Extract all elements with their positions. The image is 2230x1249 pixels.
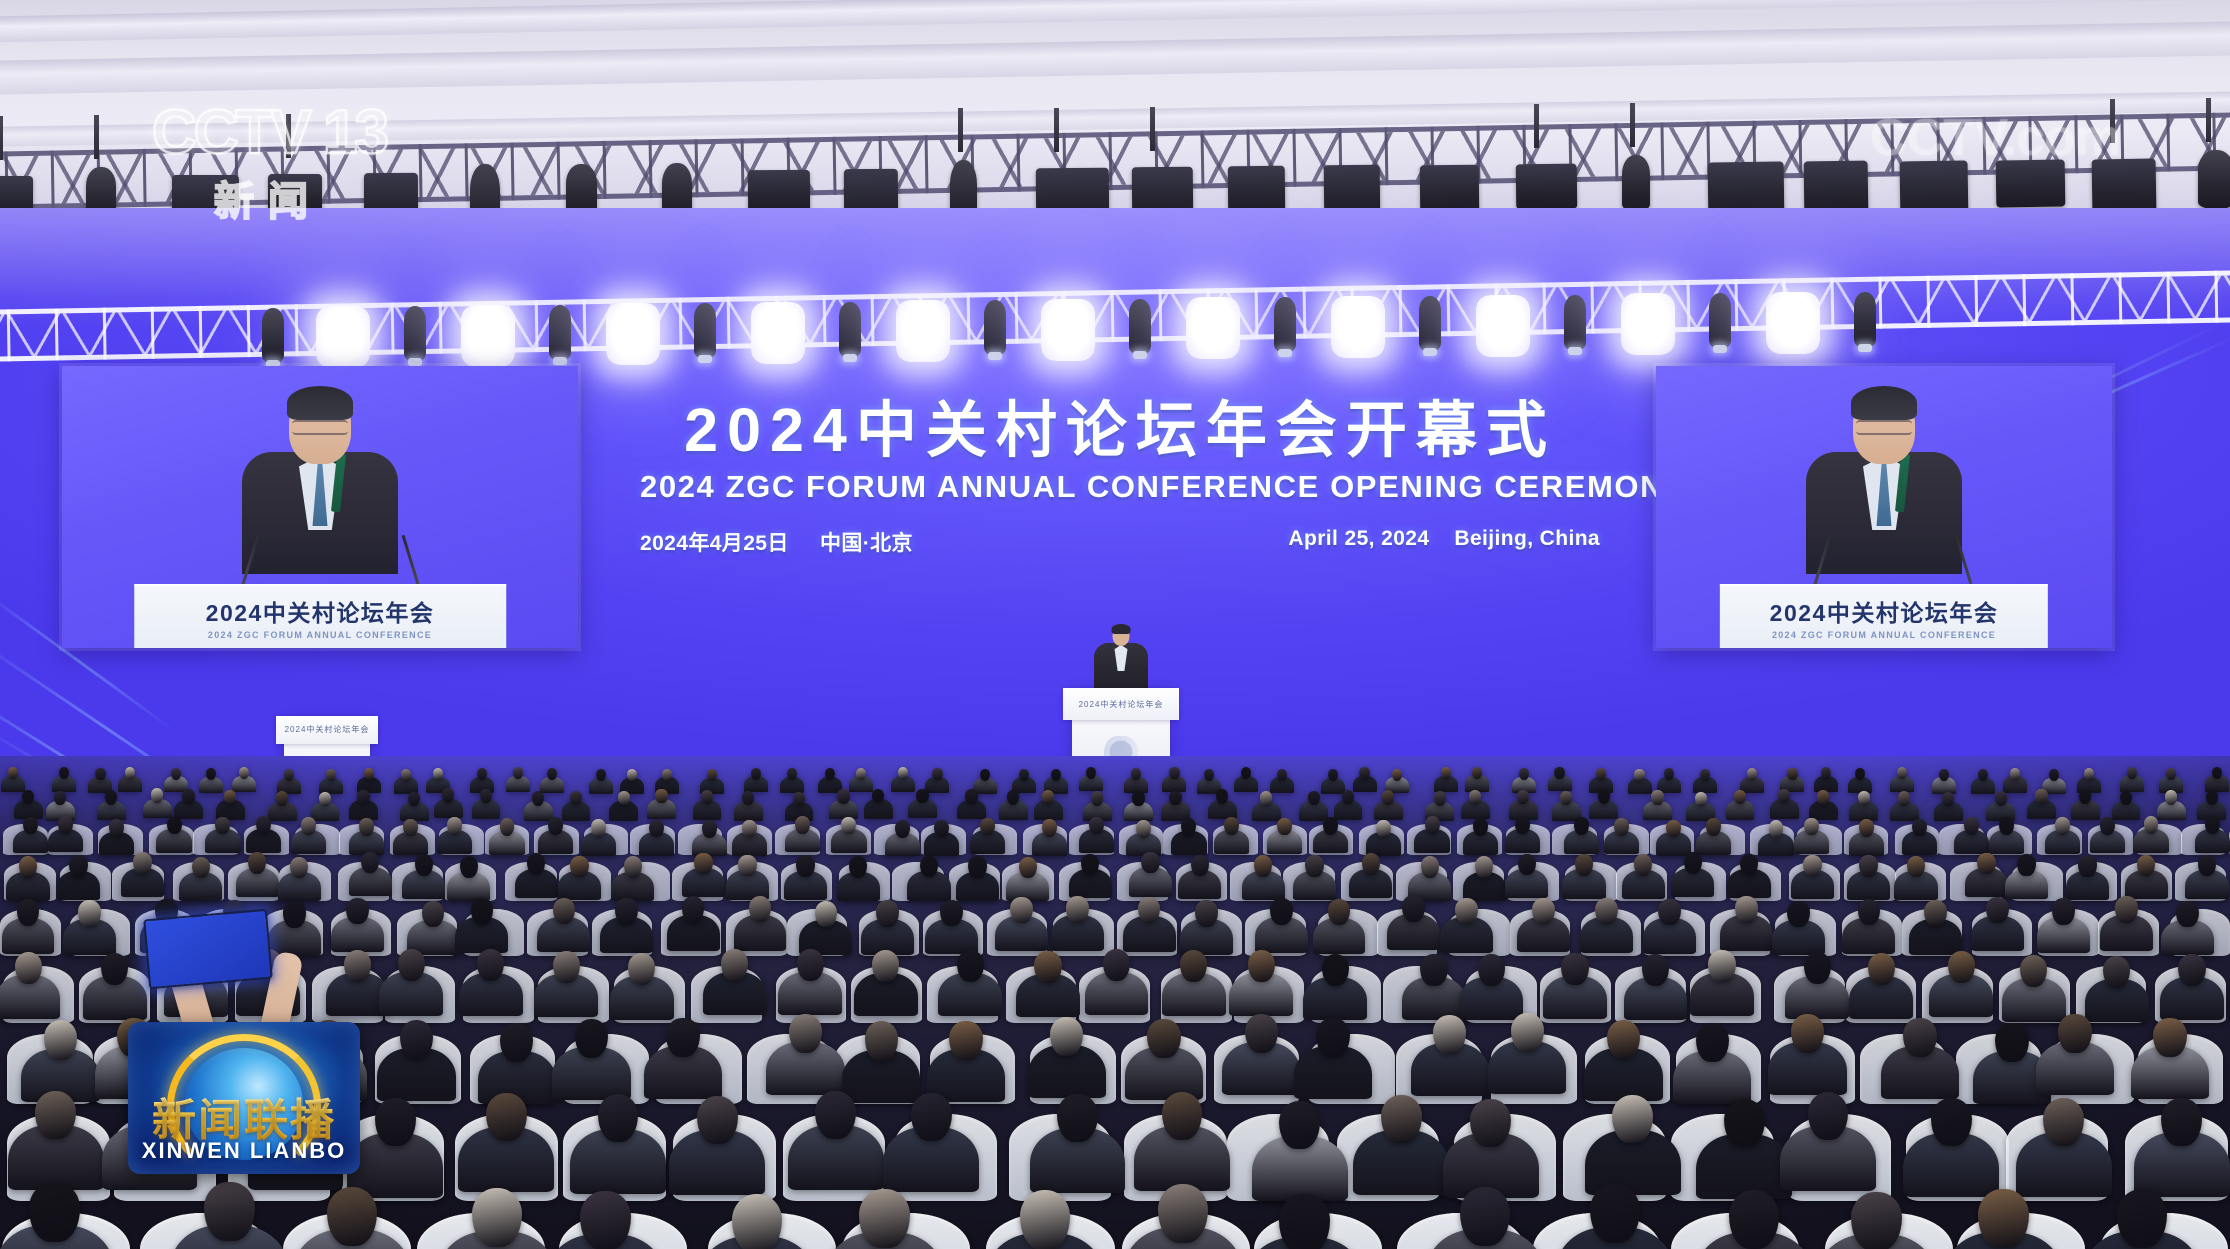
- audience-member-head: [403, 819, 418, 837]
- audience-member-head: [105, 790, 117, 804]
- audience-member-head: [1470, 1099, 1511, 1147]
- audience-member-head: [916, 789, 928, 803]
- audience-member-head: [1735, 896, 1757, 922]
- audience-member-head: [442, 788, 454, 802]
- audience-member-head: [2055, 817, 2070, 835]
- audience-member-head: [815, 1091, 856, 1139]
- audience-member-head: [932, 768, 942, 780]
- audience-member-head: [1169, 767, 1179, 779]
- audience-member-head: [570, 856, 588, 878]
- audience-member-head: [2176, 901, 2198, 927]
- stage-panel-light: [1041, 299, 1095, 361]
- audience-member-head: [1595, 898, 1617, 924]
- lectern-title-en: 2024 ZGC FORUM ANNUAL CONFERENCE: [1772, 630, 1996, 640]
- lectern-title-cn: 2024中关村论坛年会: [1770, 594, 1999, 628]
- audience-member-head: [527, 853, 545, 875]
- audience-member-head: [101, 953, 128, 985]
- audience-member-head: [171, 768, 181, 780]
- audience-member-head: [486, 1093, 527, 1141]
- audience-member-head: [2010, 768, 2020, 780]
- stage-panel-light: [606, 303, 660, 365]
- audience-member-head: [793, 792, 805, 806]
- audience-member-head: [1808, 1092, 1849, 1140]
- audience-member-head: [911, 1093, 952, 1141]
- light-hanging-clamp: [958, 108, 963, 152]
- audience-member-head: [1392, 769, 1402, 781]
- audience-member-head: [662, 769, 672, 781]
- audience-member-head: [553, 951, 580, 983]
- audience-member-head: [1254, 855, 1272, 877]
- audience-member-head: [1277, 769, 1287, 781]
- audience-member-head: [1305, 855, 1323, 877]
- audience-member-head: [1277, 818, 1292, 836]
- audience-member-head: [1964, 817, 1979, 835]
- audience-member-head: [1859, 855, 1877, 877]
- audience-member-head: [655, 789, 667, 803]
- audience-member-head: [1421, 856, 1439, 878]
- audience-member-head: [398, 949, 425, 981]
- audience-member-head: [1858, 899, 1880, 925]
- speaker-glasses: [292, 420, 348, 435]
- audience-member-head: [694, 853, 712, 875]
- audience-member-head: [575, 1019, 608, 1058]
- event-date-cn: 2024年4月25日: [640, 532, 789, 555]
- light-hanging-clamp: [0, 116, 3, 160]
- audience-member-head: [1195, 900, 1217, 926]
- podium-nameplate-text: 2024中关村论坛年会: [1079, 699, 1164, 710]
- audience-member-head: [2127, 767, 2137, 779]
- audience-member-head: [1057, 1094, 1098, 1142]
- audience-member-head: [789, 1014, 822, 1053]
- audience-member-head: [1696, 1023, 1729, 1062]
- audience-member-head: [859, 1189, 909, 1248]
- audience-member-head: [649, 820, 664, 838]
- audience-member-head: [1433, 1015, 1466, 1054]
- left-led-screen: 2024中关村论坛年会 2024 ZGC FORUM ANNUAL CONFER…: [62, 366, 578, 648]
- audience-member-head: [1132, 791, 1144, 805]
- audience-member-head: [876, 900, 898, 926]
- audience-member-head: [1634, 854, 1652, 876]
- audience-member-head: [702, 820, 717, 838]
- audience-member-head: [1245, 1014, 1278, 1053]
- light-hanging-clamp: [286, 114, 291, 158]
- audience-member-head: [151, 788, 163, 802]
- audience-member-head: [192, 857, 210, 879]
- moving-head-light: [404, 306, 426, 362]
- audience-member-head: [1316, 1018, 1349, 1057]
- speaker-hair: [1851, 386, 1917, 420]
- stage-panel-light: [316, 306, 370, 368]
- audience-member-head: [2137, 855, 2155, 877]
- audience-member-head: [2052, 898, 2074, 924]
- audience-member-head: [965, 789, 977, 803]
- audience-member-head: [1007, 790, 1019, 804]
- audience-member-head: [1066, 896, 1088, 922]
- audience-member-head: [1019, 769, 1029, 781]
- audience-member-head: [480, 789, 492, 803]
- audience-member-head: [1706, 818, 1721, 836]
- audience-member-head: [1260, 791, 1272, 805]
- lectern-title-cn: 2024中关村论坛年会: [206, 594, 435, 628]
- audience-member-head: [553, 898, 575, 924]
- audience-member-head: [1136, 820, 1151, 838]
- audience-member-head: [1434, 791, 1446, 805]
- audience-member-head: [1131, 768, 1141, 780]
- audience-member-head: [2178, 954, 2205, 986]
- audience-member-head: [1322, 954, 1349, 986]
- audience-member-head: [596, 769, 606, 781]
- audience-member-head: [1995, 1023, 2028, 1062]
- audience-member-head: [1607, 1020, 1640, 1059]
- audience-smartphone: [143, 909, 273, 990]
- audience-member-head: [1460, 1187, 1510, 1246]
- audience-member-head: [125, 767, 135, 779]
- audience-member-head: [95, 768, 105, 780]
- audience-member-head: [1141, 852, 1159, 874]
- audience-member-head: [1651, 790, 1663, 804]
- audience-member-head: [1978, 769, 1988, 781]
- audience-member-head: [2161, 1098, 2202, 1146]
- audience-member-head: [2100, 817, 2115, 835]
- stage-light-fixture: [2092, 159, 2157, 214]
- moving-head-light: [2198, 150, 2230, 209]
- event-meta: 2024年4月25日 中国·北京 April 25, 2024 Beijing,…: [640, 527, 1600, 557]
- light-hanging-clamp: [1054, 108, 1059, 152]
- audience-member-head: [415, 854, 433, 876]
- audience-member-head: [1279, 1194, 1329, 1249]
- audience-member-head: [1986, 897, 2008, 923]
- audience-member-head: [1590, 1184, 1640, 1243]
- audience-member-head: [940, 900, 962, 926]
- event-date-en: April 25, 2024: [1288, 527, 1429, 550]
- audience-member-head: [2103, 956, 2130, 988]
- audience-member-head: [78, 900, 100, 926]
- audience-member-head: [2166, 768, 2176, 780]
- audience-member-head: [1554, 767, 1564, 779]
- audience-member-head: [697, 1096, 738, 1144]
- event-title-block: 2024中关村论坛年会开幕式 2024 ZGC FORUM ANNUAL CON…: [640, 398, 1600, 557]
- audience-member-head: [359, 818, 374, 836]
- audience-member-head: [239, 767, 249, 779]
- audience-member-head: [1684, 852, 1702, 874]
- audience-member-head: [1478, 954, 1505, 986]
- audience-seating: [0, 756, 2230, 1249]
- event-location-cn: 中国·北京: [820, 532, 913, 555]
- moving-head-light: [549, 305, 571, 361]
- audience-member-head: [1804, 818, 1819, 836]
- audience-member-head: [1019, 857, 1037, 879]
- audience-member-head: [1089, 817, 1104, 835]
- audience-member-head: [283, 901, 305, 927]
- audience-member-head: [796, 855, 814, 877]
- audience-member-head: [357, 790, 369, 804]
- audience-member-head: [2043, 1098, 2084, 1146]
- audience-member-head: [2058, 1014, 2091, 1053]
- audience-member-head: [1859, 819, 1874, 837]
- audience-member-head: [276, 791, 288, 805]
- event-title-cn: 2024中关村论坛年会开幕式: [640, 398, 1600, 463]
- audience-member-head: [1103, 949, 1130, 981]
- audience-member-head: [624, 856, 642, 878]
- audience-member-head: [957, 950, 984, 982]
- audience-member-head: [1851, 1192, 1901, 1249]
- audience-member-head: [1729, 1190, 1779, 1249]
- audience-member-head: [2017, 854, 2035, 876]
- audience-member-head: [204, 1182, 254, 1241]
- screen-lectern: 2024中关村论坛年会 2024 ZGC FORUM ANNUAL CONFER…: [1720, 584, 2048, 648]
- audience-member-head: [1042, 819, 1057, 837]
- audience-member-head: [580, 1191, 630, 1249]
- audience-member-head: [344, 950, 371, 982]
- audience-member-head: [682, 896, 704, 922]
- audience-member-head: [2198, 855, 2216, 877]
- audience-member-head: [751, 768, 761, 780]
- audience-member-head: [532, 791, 544, 805]
- audience-member-head: [1708, 950, 1735, 982]
- audience-member-head: [1147, 1019, 1180, 1058]
- speaker-glasses: [1856, 420, 1912, 435]
- audience-member-head: [2078, 855, 2096, 877]
- moving-head-light: [1622, 155, 1650, 211]
- audience-member-head: [968, 856, 986, 878]
- event-location-en: Beijing, China: [1454, 527, 1600, 550]
- audience-member-head: [375, 1098, 416, 1146]
- audience-member-head: [1308, 791, 1320, 805]
- audience-member-head: [327, 1187, 377, 1246]
- event-date-location-en: April 25, 2024 Beijing, China: [1288, 527, 1600, 557]
- audience-member-head: [17, 899, 39, 925]
- audience-member-head: [795, 816, 810, 834]
- audience-member-head: [1897, 767, 1907, 779]
- audience-member-head: [19, 856, 37, 878]
- audience-member-head: [1978, 1189, 2028, 1248]
- audience-member-head: [2035, 789, 2047, 803]
- audience-member-head: [1010, 897, 1032, 923]
- audience-member-head: [1162, 1092, 1203, 1140]
- audience-member-head: [472, 1188, 522, 1247]
- audience-member-head: [284, 769, 294, 781]
- audience-member-head: [256, 816, 271, 834]
- audience-member-head: [898, 767, 908, 779]
- audience-member-head: [1804, 952, 1831, 984]
- audience-member-head: [2115, 896, 2137, 922]
- audience-member-head: [1700, 769, 1710, 781]
- audience-member-head: [1574, 817, 1589, 835]
- audience-member-head: [797, 949, 824, 981]
- venue-ceiling: [0, 0, 2230, 232]
- audience-member-head: [1081, 854, 1099, 876]
- audience-member-head: [500, 1023, 533, 1062]
- audience-member-head: [547, 768, 557, 780]
- audience-member-head: [2117, 1189, 2167, 1248]
- audience-member-head: [1532, 898, 1554, 924]
- audience-member-head: [109, 819, 124, 837]
- light-hanging-clamp: [2110, 99, 2115, 143]
- moving-head-light: [1274, 297, 1296, 353]
- audience-member-head: [787, 768, 797, 780]
- moving-head-light: [1564, 295, 1586, 351]
- audience-member-head: [69, 855, 87, 877]
- broadcast-frame: 2024中关村论坛年会开幕式 2024 ZGC FORUM ANNUAL CON…: [0, 0, 2230, 1249]
- audience-member-head: [856, 768, 866, 780]
- right-led-screen: 2024中关村论坛年会 2024 ZGC FORUM ANNUAL CONFER…: [1656, 366, 2112, 648]
- audience-member-head: [1034, 951, 1061, 983]
- audience-member-head: [749, 896, 771, 922]
- audience-member-head: [401, 769, 411, 781]
- moving-head-light: [1129, 299, 1151, 355]
- moving-head-light: [839, 302, 861, 358]
- audience-member-head: [1912, 819, 1927, 837]
- audience-member-head: [2206, 790, 2218, 804]
- audience-member-head: [721, 949, 748, 981]
- audience-member-head: [1614, 818, 1629, 836]
- moving-head-light: [1709, 293, 1731, 349]
- audience-member-head: [1995, 791, 2007, 805]
- audience-member-head: [1734, 790, 1746, 804]
- audience-member-head: [1323, 817, 1338, 835]
- audience-member-head: [447, 817, 462, 835]
- program-badge: 新闻联播 XINWEN LIANBO: [128, 1022, 360, 1174]
- audience-member-head: [460, 856, 478, 878]
- light-hanging-clamp: [2206, 98, 2211, 142]
- podium-speaker-hair: [1112, 624, 1131, 634]
- audience-member-head: [1924, 900, 1946, 926]
- event-title-en: 2024 ZGC FORUM ANNUAL CONFERENCE OPENING…: [640, 469, 1600, 505]
- audience-member-head: [980, 769, 990, 781]
- stage-panel-light: [1331, 296, 1385, 358]
- light-hanging-clamp: [94, 115, 99, 159]
- audience-member-head: [1362, 853, 1380, 875]
- stage-panel-light: [1621, 293, 1675, 355]
- moving-head-light: [1854, 292, 1876, 348]
- stage-panel-light: [1476, 295, 1530, 357]
- stage-panel-light: [896, 300, 950, 362]
- audience-member-head: [1999, 817, 2014, 835]
- audience-member-head: [471, 898, 493, 924]
- audience-member-head: [1931, 1098, 1972, 1146]
- audience-member-head: [1158, 1184, 1208, 1243]
- audience-member-head: [2212, 767, 2222, 779]
- audience-member-head: [2165, 790, 2177, 804]
- audience-member-head: [1939, 769, 1949, 781]
- audience-member-head: [738, 855, 756, 877]
- audience-member-head: [2049, 769, 2059, 781]
- stage-panel-light: [751, 302, 805, 364]
- program-name-en: XINWEN LIANBO: [128, 1138, 360, 1164]
- audience-member-head: [1359, 767, 1369, 779]
- audience-member-head: [1455, 898, 1477, 924]
- stage-panel-light: [1186, 297, 1240, 359]
- stage-panel-light: [461, 305, 515, 367]
- audience-member-head: [248, 852, 266, 874]
- light-hanging-clamp: [1150, 107, 1155, 151]
- audience-member-head: [1382, 790, 1394, 804]
- audience-member-head: [1191, 855, 1209, 877]
- audience-member-head: [1634, 769, 1644, 781]
- speaker-figure: [231, 390, 409, 572]
- audience-member-head: [1903, 1018, 1936, 1057]
- audience-member-head: [1642, 954, 1669, 986]
- audience-member-head: [206, 768, 216, 780]
- audience-member-head: [58, 816, 73, 834]
- audience-member-head: [326, 769, 336, 781]
- audience-member-head: [1511, 1013, 1544, 1052]
- audience-member-head: [1328, 769, 1338, 781]
- moving-head-light: [984, 300, 1006, 356]
- audience-member-head: [1381, 1095, 1422, 1143]
- audience-member-head: [1248, 950, 1275, 982]
- light-hanging-clamp: [1630, 103, 1635, 147]
- moving-head-light: [694, 303, 716, 359]
- audience-member-head: [949, 1021, 982, 1060]
- audience-member-head: [707, 769, 717, 781]
- audience-member-head: [1769, 820, 1784, 838]
- audience-member-head: [2020, 955, 2047, 987]
- audience-member-head: [1575, 854, 1593, 876]
- audience-member-head: [1051, 769, 1061, 781]
- audience-member-head: [2153, 1018, 2186, 1057]
- audience-member-head: [35, 1091, 76, 1139]
- audience-member-head: [29, 1182, 79, 1241]
- audience-member-head: [1086, 767, 1096, 779]
- audience-member-head: [591, 819, 606, 837]
- audience-member-head: [895, 820, 910, 838]
- audience-member-head: [1868, 953, 1895, 985]
- audience-member-head: [2120, 791, 2132, 805]
- audience-member-head: [920, 856, 938, 878]
- audience-member-head: [1612, 1095, 1653, 1143]
- audience-member-head: [849, 856, 867, 878]
- audience-member-head: [872, 950, 899, 982]
- stage-light-fixture: [1996, 159, 2066, 207]
- audience-member-head: [1907, 856, 1925, 878]
- audience-member-head: [1091, 791, 1103, 805]
- stage-panel-light: [1766, 292, 1820, 354]
- audience-member-head: [1402, 895, 1424, 921]
- audience-member-head: [1977, 853, 1995, 875]
- audience-member-head: [1821, 767, 1831, 779]
- audience-member-head: [1425, 816, 1440, 834]
- audience-member-head: [133, 852, 151, 874]
- audience-member-head: [865, 1021, 898, 1060]
- audience-member-head: [548, 817, 563, 835]
- audience-member-head: [1817, 790, 1829, 804]
- podium-nameplate-text: 2024中关村论坛年会: [285, 724, 370, 735]
- light-hanging-clamp: [1534, 104, 1539, 148]
- audience-member-head: [837, 789, 849, 803]
- audience-member-head: [1518, 854, 1536, 876]
- stage-light-fixture: [1516, 163, 1578, 209]
- audience-member-head: [1858, 791, 1870, 805]
- audience-member-head: [1787, 768, 1797, 780]
- audience-member-head: [570, 791, 582, 805]
- audience-member-head: [319, 792, 331, 806]
- audience-member-head: [666, 1018, 699, 1057]
- audience-member-head: [1695, 792, 1707, 806]
- audience-member-head: [1791, 1014, 1824, 1053]
- audience-member-head: [1787, 901, 1809, 927]
- audience-member-head: [1279, 1101, 1320, 1149]
- audience-member-head: [815, 901, 837, 927]
- audience-member-head: [615, 898, 637, 924]
- audience-member-head: [1180, 950, 1207, 982]
- audience-member-head: [1658, 899, 1680, 925]
- audience-member-head: [1803, 855, 1821, 877]
- audience-member-head: [1598, 789, 1610, 803]
- screen-lectern: 2024中关村论坛年会 2024 ZGC FORUM ANNUAL CONFER…: [134, 584, 506, 648]
- moving-head-light: [1419, 296, 1441, 352]
- audience-member-head: [1169, 791, 1181, 805]
